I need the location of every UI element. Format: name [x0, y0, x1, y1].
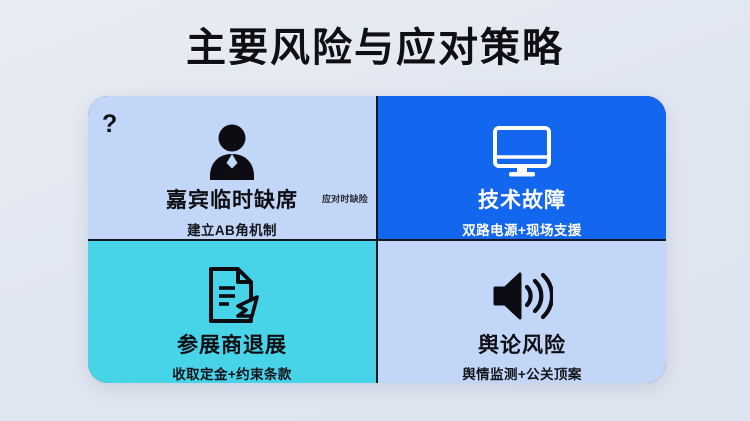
quadrant-title: 参展商退展: [177, 334, 287, 358]
monitor-icon: [492, 118, 552, 185]
quadrant-title: 技术故障: [478, 189, 566, 213]
document-edit-icon: [205, 263, 259, 330]
slide-canvas: 主要风险与应对策略 ? 嘉宾临时缺席 建立AB角机制 应对时缺险: [0, 0, 750, 421]
speaker-icon: [491, 263, 553, 330]
quadrant-subtitle: 收取定金+约束条款: [172, 363, 291, 383]
risk-matrix: ? 嘉宾临时缺席 建立AB角机制 应对时缺险: [88, 96, 666, 383]
quadrant-technical-failure[interactable]: 技术故障 双路电源+现场支援: [378, 96, 666, 239]
quadrant-guest-absence[interactable]: ? 嘉宾临时缺席 建立AB角机制 应对时缺险: [88, 96, 376, 239]
quadrant-subtitle: 舆情监测+公关顶案: [462, 363, 581, 383]
question-mark-badge: ?: [102, 112, 117, 137]
quadrant-exhibitor-withdrawal[interactable]: 参展商退展 收取定金+约束条款: [88, 241, 376, 384]
quadrant-public-opinion-risk[interactable]: 舆论风险 舆情监测+公关顶案: [378, 241, 666, 384]
page-title: 主要风险与应对策略: [0, 26, 750, 70]
quadrant-note: 应对时缺险: [322, 192, 368, 205]
quadrant-title: 嘉宾临时缺席: [166, 189, 298, 213]
person-icon: [206, 118, 258, 185]
quadrant-subtitle: 建立AB角机制: [187, 219, 277, 239]
quadrant-subtitle: 双路电源+现场支援: [462, 219, 581, 239]
quadrant-title: 舆论风险: [478, 334, 566, 358]
